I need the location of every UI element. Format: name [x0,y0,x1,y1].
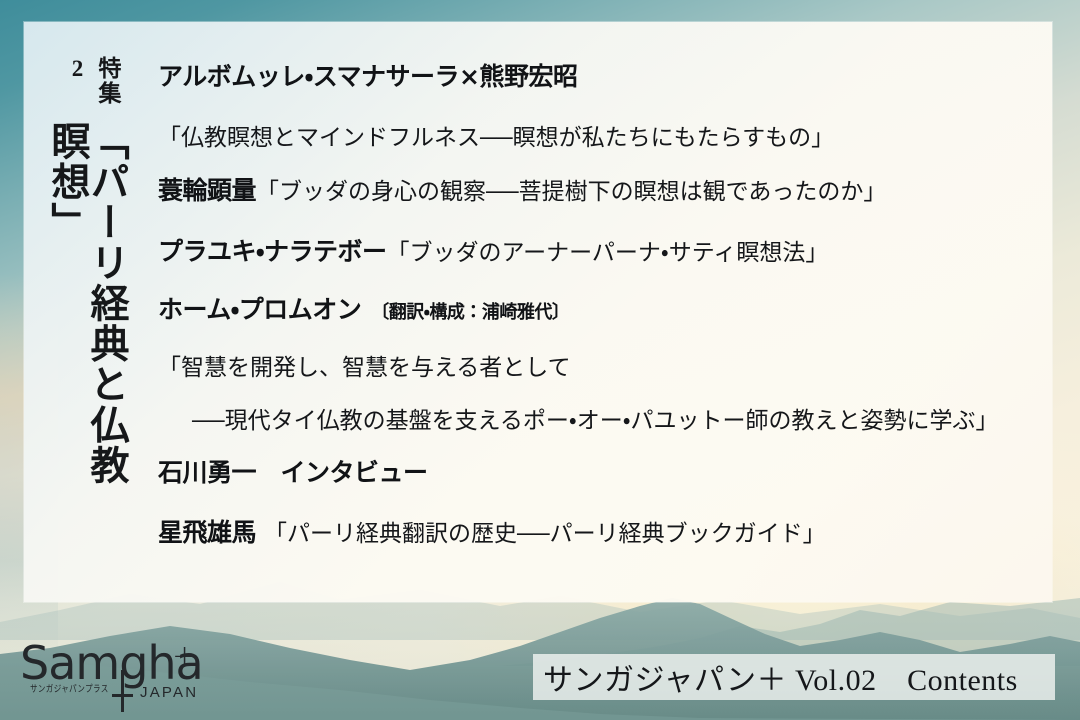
footer-title: サンガジャパン＋ Vol.02 Contents [543,655,1018,699]
entry-author-3: プラユキ・ナラテボー [158,239,387,264]
feature-title-block: 特集2 「パーリ経典と仏教瞑想」 [48,32,126,502]
entry-title-1: 「仏教瞑想とマインドフルネス──瞑想が私たちにもたらすもの」 [158,126,834,149]
list-item[interactable]: 石川勇一 インタビュー [158,460,428,485]
entry-title-2: 「ブッダの身心の観察──菩提樹下の瞑想は観であったのか」 [256,180,886,203]
entry-title-3: 「ブッダのアーナーパーナ・サティ瞑想法」 [387,241,829,264]
entry-author-2: 蓑輪顕量 [158,178,256,203]
contents-page: 特集2 「パーリ経典と仏教瞑想」 アルボムッレ・スマナサーラ×熊野宏昭 「仏教瞑… [0,0,1080,720]
list-item[interactable]: 星飛雄馬 「パーリ経典翻訳の歴史──パーリ経典ブックガイド」 [158,520,826,545]
feature-label: 特集2 [64,56,124,121]
content-panel: 特集2 「パーリ経典と仏教瞑想」 アルボムッレ・スマナサーラ×熊野宏昭 「仏教瞑… [24,22,1052,602]
entry-author-6: 星飛雄馬 [158,520,256,545]
entry-title-4-line2: ──現代タイ仏教の基盤を支えるポー・オー・パユットー師の教えと姿勢に学ぶ」 [192,409,999,432]
list-item[interactable]: 「仏教瞑想とマインドフルネス──瞑想が私たちにもたらすもの」 [158,126,834,149]
list-item[interactable]: 蓑輪顕量 「ブッダの身心の観察──菩提樹下の瞑想は観であったのか」 [158,178,886,203]
list-item[interactable]: アルボムッレ・スマナサーラ×熊野宏昭 [158,64,577,89]
entry-author-4: ホーム・プロムオン [158,297,361,322]
list-item[interactable]: ホーム・プロムオン 〔翻訳・構成：浦崎雅代〕 [158,297,569,324]
logo-kana-label: サンガジャパンプラス [30,682,109,696]
samgha-logo[interactable]: Samgha + JAPAN サンガジャパンプラス [20,640,230,712]
list-item[interactable]: 「智慧を開発し、智慧を与える者として [158,356,571,379]
entry-author-5: 石川勇一 インタビュー [158,460,428,485]
logo-stem-cross-decoration [112,694,133,697]
logo-stem-decoration [121,670,124,712]
entry-title-6: 「パーリ経典翻訳の歴史──パーリ経典ブックガイド」 [264,522,826,545]
page-title: 「パーリ経典と仏教瞑想」 [48,121,126,502]
entry-author-1: アルボムッレ・スマナサーラ×熊野宏昭 [158,64,577,89]
entry-credit-4: 〔翻訳・構成：浦崎雅代〕 [371,298,569,324]
entry-title-4-line1: 「智慧を開発し、智慧を与える者として [158,356,571,379]
list-item[interactable]: ──現代タイ仏教の基盤を支えるポー・オー・パユットー師の教えと姿勢に学ぶ」 [192,409,999,432]
logo-plus-icon: + [172,642,197,672]
list-item[interactable]: プラユキ・ナラテボー 「ブッダのアーナーパーナ・サティ瞑想法」 [158,239,828,264]
logo-region-label: JAPAN [140,684,198,701]
